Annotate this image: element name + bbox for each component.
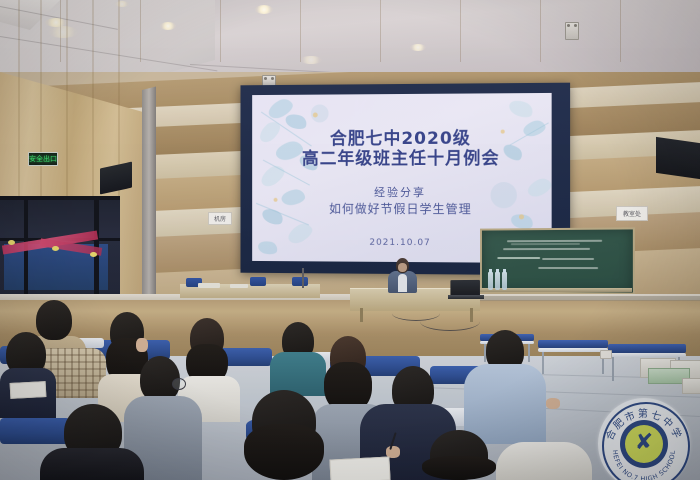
ceiling-downlight bbox=[48, 26, 78, 38]
chalk-stroke bbox=[503, 248, 590, 250]
bench-seat bbox=[538, 340, 608, 348]
right-wall-panel bbox=[656, 137, 700, 179]
svg-text:HEFEI NO.7 HIGH SCHOOL: HEFEI NO.7 HIGH SCHOOL bbox=[611, 450, 677, 480]
banner-dot bbox=[90, 252, 97, 257]
water-bottle bbox=[495, 272, 500, 290]
ceiling-downlight bbox=[160, 22, 176, 30]
logo-chinese-arc: 合肥市第七中学 HEFEI NO.7 HIGH SCHOOL bbox=[598, 398, 690, 480]
stage-grain bbox=[460, 0, 461, 62]
stage-edge-shadow bbox=[470, 296, 700, 301]
slide-subtitle-line1: 经验分享 bbox=[252, 186, 551, 199]
wall-divider-column bbox=[142, 87, 156, 325]
stage-papers bbox=[198, 283, 220, 288]
chalk-stroke bbox=[497, 257, 540, 259]
stage-grain bbox=[300, 0, 301, 62]
bench-leg bbox=[528, 344, 530, 362]
audience-hand bbox=[546, 398, 560, 409]
stage-grain bbox=[620, 0, 621, 62]
exit-sign-label: 安全出口 bbox=[29, 155, 57, 163]
water-bottle bbox=[502, 272, 507, 290]
logo-english-text: HEFEI NO.7 HIGH SCHOOL bbox=[611, 450, 677, 480]
speaker-shirt bbox=[398, 274, 407, 292]
wall-outlet bbox=[600, 350, 612, 359]
bench-leg bbox=[542, 352, 544, 374]
stage-grain bbox=[540, 0, 541, 62]
wall-mount-bracket bbox=[565, 22, 579, 40]
bench-frame bbox=[608, 353, 686, 357]
laptop bbox=[450, 280, 480, 296]
lecture-hall-photo: 安全出口 机房 教室处 bbox=[0, 0, 700, 480]
audience-seat bbox=[0, 418, 70, 444]
audience-person-body bbox=[464, 364, 546, 444]
chalk-stroke bbox=[538, 267, 598, 269]
stage-papers bbox=[230, 284, 248, 288]
ceiling-downlight bbox=[410, 44, 426, 51]
audience-person-head bbox=[36, 300, 72, 340]
slide-title-line1: 合肥七中2020级 bbox=[252, 129, 551, 149]
laptop-base bbox=[448, 295, 484, 299]
ceiling-downlight bbox=[255, 5, 273, 14]
stage-grain bbox=[220, 0, 221, 62]
bench-leg bbox=[612, 357, 614, 381]
podium-leg bbox=[360, 308, 363, 322]
audience-ponytail bbox=[422, 456, 496, 480]
eyeglasses bbox=[172, 378, 186, 390]
exit-sign: 安全出口 bbox=[28, 152, 58, 166]
audience-person-body bbox=[496, 442, 592, 480]
leaf-decoration bbox=[507, 97, 535, 120]
banner-dot bbox=[8, 240, 15, 245]
stage-grain bbox=[380, 0, 381, 62]
right-wall-sign: 教室处 bbox=[616, 206, 648, 221]
slide-title-line2: 高二年级班主任十月例会 bbox=[252, 150, 551, 169]
stage-grain bbox=[140, 0, 141, 62]
audience-ponytail bbox=[244, 424, 324, 480]
notebook-page bbox=[10, 381, 47, 399]
chalk-stroke bbox=[507, 240, 602, 242]
floor-cable bbox=[420, 312, 480, 331]
right-wall-sign-label: 教室处 bbox=[623, 209, 641, 218]
glass-mullion bbox=[0, 196, 120, 200]
chalk-stroke bbox=[511, 243, 580, 245]
school-logo-watermark: ✘ 合肥市第七中学 HEFEI NO.7 HIGH SCHOOL bbox=[598, 398, 690, 480]
left-wall-sign: 机房 bbox=[208, 212, 232, 225]
bench-seat bbox=[608, 344, 686, 353]
notebook-page bbox=[329, 456, 390, 480]
left-wall-sign-label: 机房 bbox=[214, 214, 226, 223]
audience-hand bbox=[136, 338, 148, 352]
speaker-face bbox=[398, 263, 407, 272]
storage-box bbox=[682, 378, 700, 394]
water-bottle bbox=[488, 272, 493, 290]
stage-chair bbox=[292, 277, 308, 286]
audience-person-body bbox=[40, 448, 144, 480]
stage-chair bbox=[250, 277, 266, 286]
svg-text:合肥市第七中学: 合肥市第七中学 bbox=[603, 407, 686, 442]
mic-stand bbox=[302, 268, 304, 288]
chalk-stroke bbox=[542, 258, 594, 260]
accent-dot bbox=[313, 112, 318, 117]
ceiling-downlight bbox=[300, 56, 322, 64]
slide-subtitle-line2: 如何做好节假日学生管理 bbox=[252, 202, 551, 217]
stage-grain bbox=[60, 0, 61, 62]
logo-chinese-text: 合肥市第七中学 bbox=[603, 407, 686, 442]
banner-dot bbox=[52, 246, 59, 251]
bench-frame bbox=[538, 348, 608, 352]
